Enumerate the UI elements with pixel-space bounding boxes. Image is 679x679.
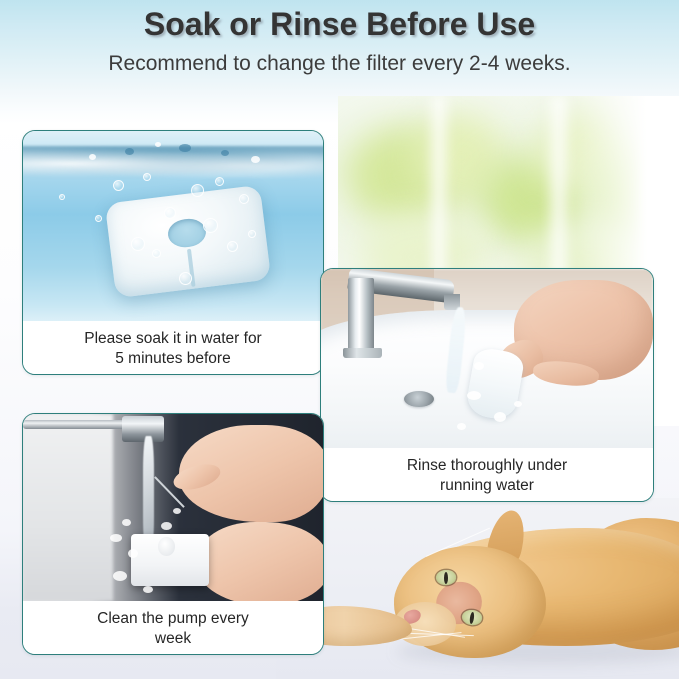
pump-impeller-knob: [158, 537, 175, 556]
water-spray: [122, 519, 131, 526]
water-splash: [251, 156, 260, 163]
cat-eye-left: [436, 570, 456, 585]
rinse-caption-line2: running water: [440, 477, 534, 494]
cat-pupil: [444, 572, 448, 584]
water-bubble: [248, 230, 256, 238]
pump-caption: Clean the pump every week: [23, 603, 323, 654]
card-rinse: Rinse thoroughly under running water: [320, 268, 654, 502]
water-spray: [113, 571, 127, 581]
rinse-photo: [321, 269, 653, 448]
water-spray: [110, 534, 122, 542]
sink-drain: [404, 391, 434, 407]
water-bubble: [95, 215, 102, 222]
faucet-column: [348, 278, 375, 353]
soak-caption-line2: 5 minutes before: [115, 350, 230, 367]
page-subtitle: Recommend to change the filter every 2-4…: [0, 52, 679, 76]
pump-caption-line1: Clean the pump every: [97, 610, 249, 627]
soak-caption-line1: Please soak it in water for: [84, 330, 261, 347]
pump-caption-text: Clean the pump every week: [97, 609, 249, 649]
cat-pupil: [469, 611, 475, 623]
water-splash: [89, 154, 96, 160]
sink-scene: [321, 269, 653, 448]
water-spray: [128, 549, 138, 558]
water-splash: [474, 362, 484, 370]
soak-caption-text: Please soak it in water for 5 minutes be…: [84, 329, 261, 369]
water-splash: [457, 423, 466, 430]
water-bubble: [113, 180, 124, 191]
pump-photo: [23, 414, 323, 601]
faucet-base: [343, 348, 383, 359]
water-bubble: [239, 194, 249, 204]
filter-center-hole: [167, 216, 208, 249]
infographic-page: Soak or Rinse Before Use Recommend to ch…: [0, 0, 679, 679]
water-splash: [467, 391, 481, 400]
pump-scene: [23, 414, 323, 601]
water-surface: [23, 146, 323, 178]
card-pump: Clean the pump every week: [22, 413, 324, 655]
water-splash: [221, 150, 229, 156]
soak-photo: [23, 131, 323, 321]
rinse-caption: Rinse thoroughly under running water: [321, 450, 653, 501]
water-bubble: [59, 194, 65, 200]
water-spray: [143, 586, 153, 593]
rinse-caption-line1: Rinse thoroughly under: [407, 457, 567, 474]
water-bubble: [215, 177, 224, 186]
water-bubble: [143, 173, 151, 181]
water-splash: [494, 412, 506, 422]
water-bubble: [164, 207, 176, 219]
cat-photo: [276, 498, 679, 679]
card-soak: Please soak it in water for 5 minutes be…: [22, 130, 324, 375]
water-spray: [161, 522, 172, 530]
water-spray: [173, 508, 181, 514]
pump-background-wall: [23, 414, 113, 601]
soak-caption: Please soak it in water for 5 minutes be…: [23, 323, 323, 374]
water-bubble: [152, 249, 161, 258]
water-bubble: [179, 272, 192, 285]
pump-tap: [122, 416, 164, 442]
pump-caption-line2: week: [155, 630, 191, 647]
page-title: Soak or Rinse Before Use: [0, 6, 679, 43]
header: Soak or Rinse Before Use Recommend to ch…: [0, 0, 679, 96]
hand-lower: [197, 522, 323, 601]
water-scene: [23, 131, 323, 321]
rinse-caption-text: Rinse thoroughly under running water: [407, 456, 567, 496]
